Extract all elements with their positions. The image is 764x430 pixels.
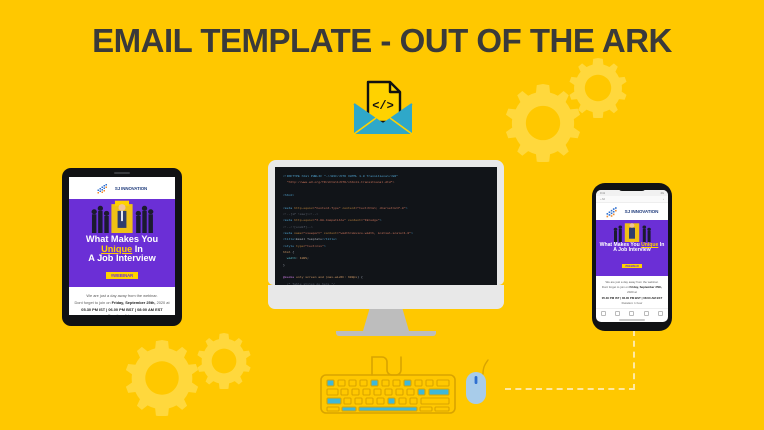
webinar-badge: #WEBINAR	[622, 264, 643, 269]
body-line-1: We are just a day away from the webinar.	[74, 293, 170, 300]
brand-name: SJ INNOVATION	[625, 209, 659, 214]
body-duration: Duration: 1 hour	[600, 301, 664, 306]
email-header: SJ INNOVATION	[596, 203, 668, 220]
body-times: 05.30 PM IST | 06.00 PM BST | 08:00 AM E…	[74, 307, 170, 314]
email-header: SJ INNOVATION	[69, 177, 175, 199]
phone-notch	[618, 186, 646, 191]
email-headline: What Makes You Unique In A Job Interview	[599, 243, 665, 254]
code-line: /* Table styles go here */	[283, 281, 489, 285]
tablet-mockup: SJ INNOVATION	[62, 168, 182, 326]
interview-illustration	[596, 220, 668, 242]
tab-trash-icon[interactable]	[658, 311, 663, 316]
tab-mailbox-icon[interactable]	[601, 311, 606, 316]
webinar-badge: #WEBINAR	[106, 272, 138, 279]
home-indicator	[619, 319, 645, 321]
sj-innovation-logo-icon	[606, 206, 623, 218]
connector-line-vertical	[633, 330, 635, 390]
tab-folder-icon[interactable]	[615, 311, 620, 316]
email-body: We are just a day away from the webinar.…	[69, 287, 175, 315]
phone-mockup: 9:41 4G ‹ All ›	[592, 183, 672, 331]
monitor-stand-neck	[363, 309, 409, 331]
email-headline-box: What Makes You Unique In A Job Interview…	[596, 242, 668, 276]
banner-canvas: EMAIL TEMPLATE - OUT OF THE ARK </>	[0, 0, 764, 430]
phone-screen: 9:41 4G ‹ All ›	[596, 190, 668, 322]
tablet-screen: SJ INNOVATION	[69, 177, 175, 315]
connector-line-horizontal	[505, 388, 635, 390]
desktop-mockup: <!DOCTYPE html PUBLIC "-//W3C//DTD XHTML…	[268, 160, 504, 336]
brand-name: SJ INNOVATION	[115, 186, 147, 191]
keyboard-icon	[318, 345, 458, 423]
email-headline-box: What Makes You Unique In A Job Interview…	[69, 233, 175, 287]
status-signal: 4G	[661, 192, 664, 195]
monitor-stand-base	[336, 331, 436, 336]
mail-app-tabbar[interactable]	[596, 308, 668, 317]
email-hero-illustration	[596, 220, 668, 242]
mail-app-navbar: ‹ All ›	[596, 196, 668, 203]
email-hero-illustration	[69, 199, 175, 233]
interview-illustration	[69, 199, 175, 233]
code-editor-content: <!DOCTYPE html PUBLIC "-//W3C//DTD XHTML…	[283, 173, 489, 285]
body-duration: Duration: 1 hour	[74, 313, 170, 315]
svg-text:</>: </>	[372, 99, 394, 113]
gear-icon	[124, 340, 200, 416]
code-editor-screen[interactable]: <!DOCTYPE html PUBLIC "-//W3C//DTD XHTML…	[275, 167, 497, 285]
more-button[interactable]: ›	[663, 197, 664, 201]
page-title: EMAIL TEMPLATE - OUT OF THE ARK	[0, 22, 764, 60]
email-body: We are just a day away from the webinar.…	[596, 276, 668, 310]
tab-archive-icon[interactable]	[644, 311, 649, 316]
gear-icon	[196, 333, 252, 389]
gear-icon	[568, 58, 628, 118]
brand-logo: SJ INNOVATION	[97, 183, 147, 194]
sj-innovation-logo-icon	[97, 183, 113, 194]
envelope-with-code-icon: </>	[352, 78, 414, 136]
status-time: 9:41	[600, 192, 605, 195]
monitor-frame: <!DOCTYPE html PUBLIC "-//W3C//DTD XHTML…	[268, 160, 504, 285]
monitor-chin	[268, 285, 504, 309]
email-headline: What Makes You Unique In A Job Interview	[72, 235, 172, 264]
tab-compose-icon[interactable]	[629, 311, 634, 316]
mouse-icon	[462, 358, 492, 408]
brand-logo: SJ INNOVATION	[606, 206, 659, 218]
back-button[interactable]: ‹ All	[600, 197, 605, 201]
body-line-2: Dont forget to join on Friday, September…	[600, 285, 664, 296]
body-line-2: Dont forget to join on Friday, September…	[74, 300, 170, 307]
